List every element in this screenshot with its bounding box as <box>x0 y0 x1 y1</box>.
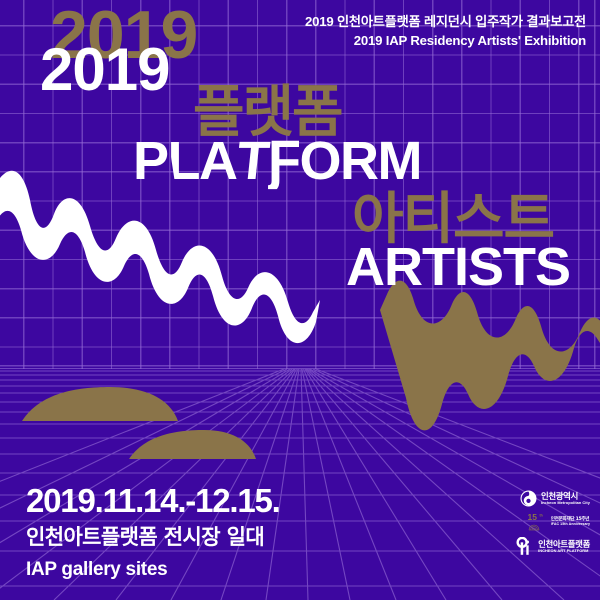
dome-large-icon <box>22 387 178 421</box>
glyph-r: R <box>340 134 378 188</box>
logo-group: 인천광역시 Incheon Metropolitan City 15 th 인천… <box>498 490 590 556</box>
glyph-t2: T <box>422 240 454 294</box>
glyph-i2: I <box>454 240 468 294</box>
ifac-15th-mark-icon: 15 th <box>527 512 547 532</box>
incheon-city-en: Incheon Metropolitan City <box>541 501 590 505</box>
venue-korean: 인천아트플랫폼 전시장 일대 <box>26 527 264 548</box>
glyph-f: Ƒ <box>268 133 300 189</box>
glyph-t: T <box>234 134 271 188</box>
logo-incheon-art-platform: 인천아트플랫폼 INCHEON ART PLATFORM <box>515 537 590 556</box>
header-text: 2019 인천아트플랫폼 레지던시 입주작가 결과보고전 2019 IAP Re… <box>305 12 586 50</box>
svg-text:th: th <box>539 514 542 518</box>
glyph-m: M <box>378 134 421 188</box>
glyph-s2: S <box>468 240 503 294</box>
iap-mark-icon <box>515 537 534 556</box>
incheon-city-mark-icon <box>520 490 537 507</box>
glyph-l: L <box>168 134 200 188</box>
glyph-t3: T <box>503 240 535 294</box>
glyph-a2: A <box>346 240 384 294</box>
iap-text: 인천아트플랫폼 INCHEON ART PLATFORM <box>538 540 590 553</box>
venue-english: IAP gallery sites <box>26 560 167 579</box>
year-white: 2019 <box>40 40 169 100</box>
glyph-o: O <box>300 134 341 188</box>
wave-right-icon <box>380 281 600 431</box>
incheon-city-text: 인천광역시 Incheon Metropolitan City <box>541 492 590 505</box>
poster-canvas: 2019 인천아트플랫폼 레지던시 입주작가 결과보고전 2019 IAP Re… <box>0 0 600 600</box>
logo-ifac-15th: 15 th 인천문화재단 15주년 IFAC 15th Anniversary <box>527 512 590 532</box>
header-korean: 2019 인천아트플랫폼 레지던시 입주작가 결과보고전 <box>305 12 586 31</box>
glyph-s3: S <box>535 240 570 294</box>
exhibition-date: 2019.11.14.-12.15. <box>26 484 280 517</box>
svg-text:15: 15 <box>527 512 537 522</box>
ifac-text: 인천문화재단 15주년 IFAC 15th Anniversary <box>551 518 590 527</box>
artists-english: ARTISTS <box>346 240 570 294</box>
glyph-p: P <box>133 134 168 188</box>
iap-en: INCHEON ART PLATFORM <box>538 549 590 553</box>
platform-english: PLATƑORM <box>133 134 421 188</box>
glyph-r2: R <box>384 240 422 294</box>
dome-small-icon <box>129 430 256 459</box>
ifac-en: IFAC 15th Anniversary <box>551 523 590 527</box>
logo-incheon-metropolitan-city: 인천광역시 Incheon Metropolitan City <box>520 490 590 507</box>
header-english: 2019 IAP Residency Artists' Exhibition <box>305 31 586 50</box>
glyph-a: A <box>199 134 237 188</box>
wave-left-icon <box>0 171 320 343</box>
